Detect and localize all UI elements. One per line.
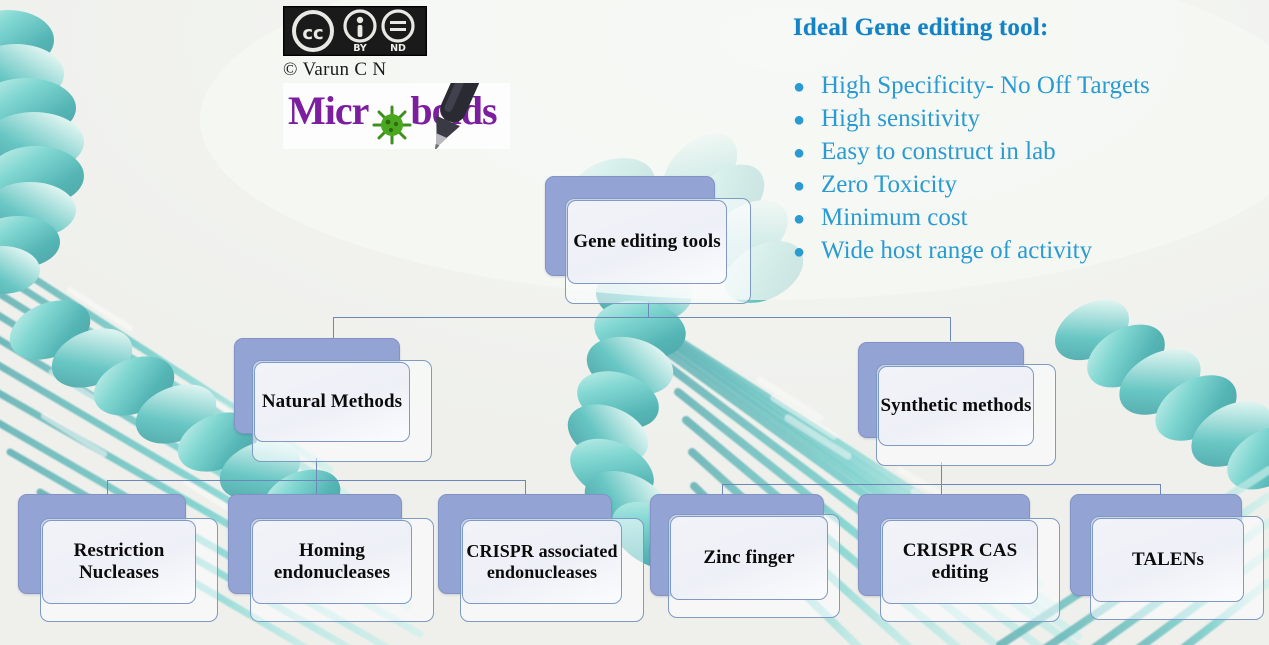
node-label: Restriction Nucleases xyxy=(43,540,195,585)
node-label: CRISPR associated endonucleases xyxy=(463,541,621,583)
node-label: Gene editing tools xyxy=(573,231,720,253)
slide-canvas: cc BY ND © Varun C N Micrboids xyxy=(0,0,1269,645)
gene-editing-flowchart: Gene editing tools Natural Methods Synth… xyxy=(0,0,1269,645)
node-natural-methods[interactable]: Natural Methods xyxy=(234,338,432,462)
node-face: CRISPR associated endonucleases xyxy=(462,520,622,604)
node-face: CRISPR CAS editing xyxy=(882,520,1038,604)
node-label: Synthetic methods xyxy=(880,395,1031,417)
node-face: Natural Methods xyxy=(254,362,410,442)
connector-level1-bar xyxy=(333,317,950,318)
node-label: Natural Methods xyxy=(262,391,402,413)
node-label: Zinc finger xyxy=(703,547,794,569)
node-crispr-associated-endonucleases[interactable]: CRISPR associated endonucleases xyxy=(438,494,644,622)
connector-root-down xyxy=(648,302,649,317)
node-face: Gene editing tools xyxy=(567,200,727,284)
node-restriction-nucleases[interactable]: Restriction Nucleases xyxy=(18,494,218,622)
node-label: TALENs xyxy=(1132,549,1204,571)
node-face: Zinc finger xyxy=(670,516,828,600)
node-face: TALENs xyxy=(1092,518,1244,602)
node-zinc-finger[interactable]: Zinc finger xyxy=(650,494,840,618)
node-face: Restriction Nucleases xyxy=(42,520,196,604)
node-homing-endonucleases[interactable]: Homing endonucleases xyxy=(228,494,434,622)
node-label: Homing endonucleases xyxy=(253,540,411,585)
node-synthetic-methods[interactable]: Synthetic methods xyxy=(858,342,1056,466)
connector-to-synthetic xyxy=(950,317,951,341)
node-label: CRISPR CAS editing xyxy=(883,540,1037,585)
node-gene-editing-tools[interactable]: Gene editing tools xyxy=(545,176,751,304)
node-crispr-cas-editing[interactable]: CRISPR CAS editing xyxy=(858,494,1060,622)
node-talens[interactable]: TALENs xyxy=(1070,494,1264,620)
node-face: Synthetic methods xyxy=(878,366,1034,446)
node-face: Homing endonucleases xyxy=(252,520,412,604)
